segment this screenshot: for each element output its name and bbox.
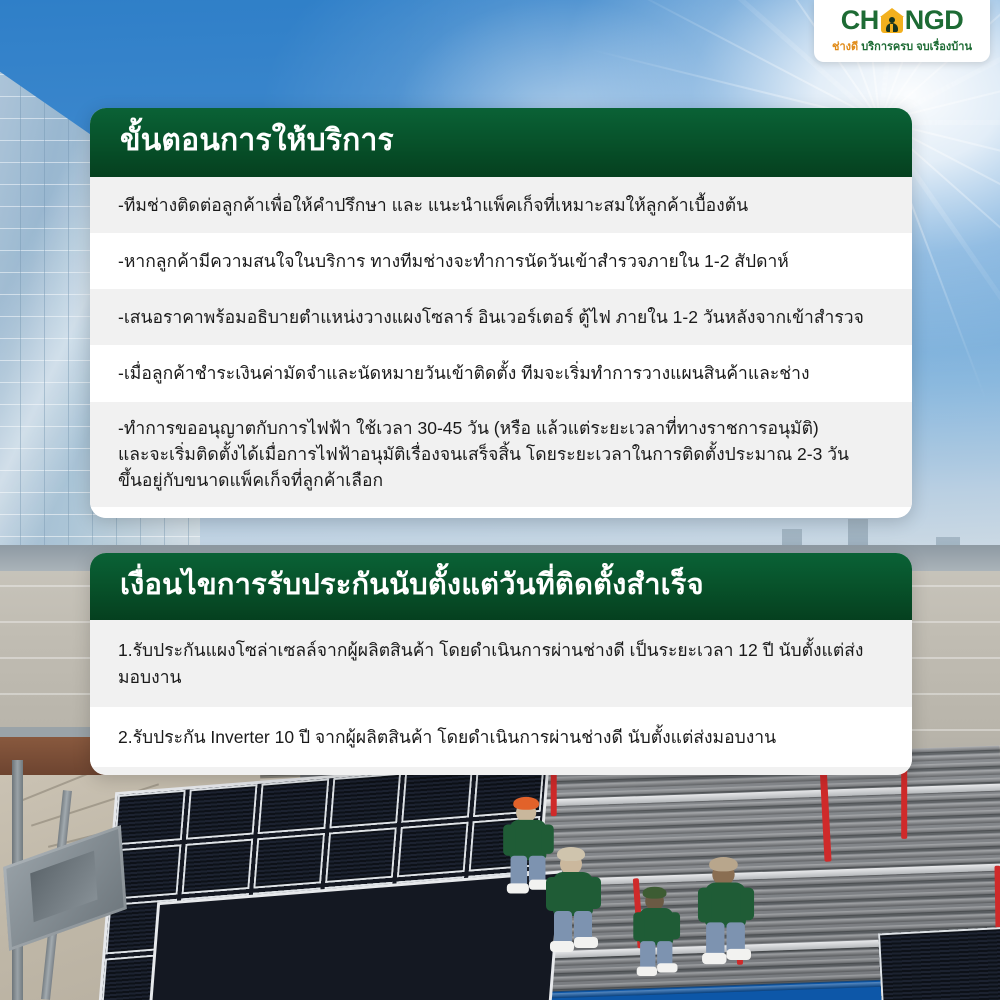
process-step-3: -เสนอราคาพร้อมอธิบายตำแหน่งวางแผงโซลาร์ … [90,289,912,345]
warranty-item-2: 2.รับประกัน Inverter 10 ปี จากผู้ผลิตสิน… [90,707,912,767]
process-step-1: -ทีมช่างติดต่อลูกค้าเพื่อให้คำปรึกษา และ… [90,177,912,233]
house-with-worker-icon [880,8,904,33]
logo-tagline-rest: บริการครบ จบเรื่องบ้าน [861,41,972,53]
warranty-card-title: เงื่อนไขการรับประกันนับตั้งแต่วันที่ติดต… [90,553,912,620]
process-card-title: ขั้นตอนการให้บริการ [90,108,912,177]
logo-word-right: NGD [905,7,964,34]
logo-word-left: CH [841,7,879,34]
process-step-5: -ทำการขออนุญาตกับการไฟฟ้า ใช้เวลา 30-45 … [90,402,912,508]
process-step-4: -เมื่อลูกค้าชำระเงินค่ามัดจำและนัดหมายวั… [90,345,912,401]
process-card: ขั้นตอนการให้บริการ -ทีมช่างติดต่อลูกค้า… [90,108,912,518]
brand-logo[interactable]: CH NGD ช่างดี บริการครบ จบเรื่องบ้าน [814,0,990,62]
logo-tagline: ช่างดี บริการครบ จบเรื่องบ้าน [832,37,972,55]
warranty-item-3: 3.รับประกันติดตั้ง 5 ปี โดยช่างติดตั้ง [90,767,912,775]
logo-tagline-brand: ช่างดี [832,41,858,53]
logo-wordmark: CH NGD [841,7,964,34]
warranty-item-1: 1.รับประกันแผงโซล่าเซลล์จากผู้ผลิตสินค้า… [90,620,912,707]
process-step-2: -หากลูกค้ามีความสนใจในบริการ ทางทีมช่างจ… [90,233,912,289]
solar-panel-strip [878,927,1000,1000]
process-step-6: -ไม่มีการขออนุญาตขายไฟคืนการไฟฟ้า [90,507,912,518]
warranty-card: เงื่อนไขการรับประกันนับตั้งแต่วันที่ติดต… [90,553,912,775]
